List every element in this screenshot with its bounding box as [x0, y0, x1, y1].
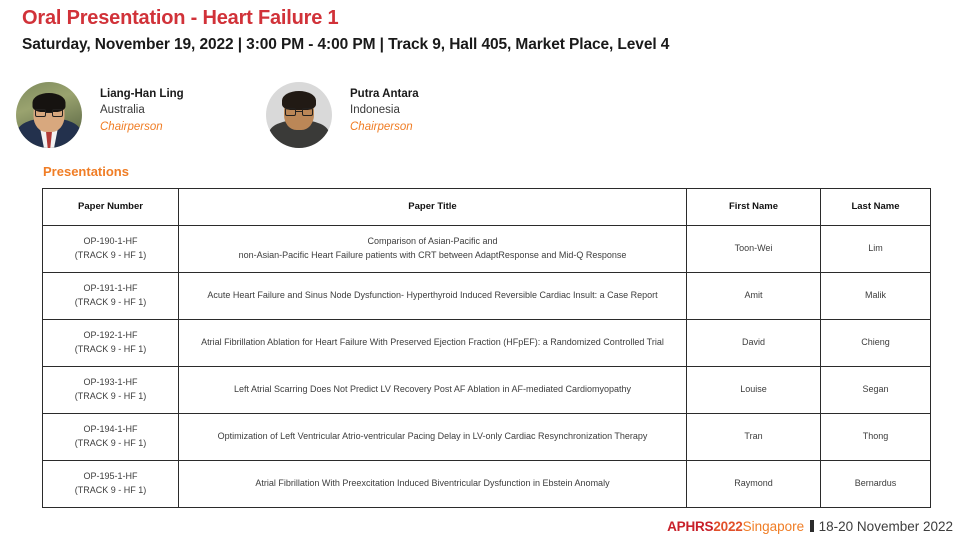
- paper-title-line2: non-Asian-Pacific Heart Failure patients…: [239, 250, 627, 260]
- cell-paper-number: OP-190-1-HF (TRACK 9 - HF 1): [43, 226, 179, 273]
- avatar: [266, 82, 332, 148]
- table-row: OP-191-1-HF (TRACK 9 - HF 1) Acute Heart…: [43, 273, 931, 320]
- chairperson-card: Putra Antara Indonesia Chairperson: [266, 72, 516, 148]
- table-header-row: Paper Number Paper Title First Name Last…: [43, 189, 931, 226]
- presentations-heading: Presentations: [43, 164, 129, 179]
- cell-paper-title: Comparison of Asian-Pacific and non-Asia…: [179, 226, 687, 273]
- table-row: OP-194-1-HF (TRACK 9 - HF 1) Optimizatio…: [43, 414, 931, 461]
- chairperson-country: Indonesia: [350, 102, 419, 118]
- cell-last-name: Lim: [821, 226, 931, 273]
- chairperson-card: Liang-Han Ling Australia Chairperson: [16, 72, 266, 148]
- separator-bar-icon: [810, 520, 814, 532]
- column-header-last-name: Last Name: [821, 189, 931, 226]
- paper-id: OP-193-1-HF: [49, 376, 172, 390]
- chairperson-name: Putra Antara: [350, 86, 419, 102]
- cell-paper-number: OP-194-1-HF (TRACK 9 - HF 1): [43, 414, 179, 461]
- cell-paper-title: Atrial Fibrillation Ablation for Heart F…: [179, 320, 687, 367]
- footer-year: 2022: [713, 519, 742, 534]
- cell-paper-number: OP-193-1-HF (TRACK 9 - HF 1): [43, 367, 179, 414]
- avatar: [16, 82, 82, 148]
- cell-first-name: Raymond: [687, 461, 821, 508]
- footer-city: Singapore: [743, 519, 805, 534]
- cell-paper-number: OP-195-1-HF (TRACK 9 - HF 1): [43, 461, 179, 508]
- paper-id: OP-195-1-HF: [49, 470, 172, 484]
- footer-branding: APHRS2022Singapore18-20 November 2022: [667, 520, 953, 534]
- cell-first-name: Amit: [687, 273, 821, 320]
- cell-last-name: Thong: [821, 414, 931, 461]
- table-row: OP-192-1-HF (TRACK 9 - HF 1) Atrial Fibr…: [43, 320, 931, 367]
- table-row: OP-193-1-HF (TRACK 9 - HF 1) Left Atrial…: [43, 367, 931, 414]
- paper-track: (TRACK 9 - HF 1): [49, 343, 172, 357]
- cell-first-name: Louise: [687, 367, 821, 414]
- chairperson-role: Chairperson: [350, 119, 419, 135]
- cell-first-name: David: [687, 320, 821, 367]
- paper-id: OP-194-1-HF: [49, 423, 172, 437]
- paper-track: (TRACK 9 - HF 1): [49, 249, 172, 263]
- cell-paper-title: Left Atrial Scarring Does Not Predict LV…: [179, 367, 687, 414]
- session-details: Saturday, November 19, 2022 | 3:00 PM - …: [22, 36, 669, 54]
- footer-dates: 18-20 November 2022: [819, 519, 953, 534]
- page-title: Oral Presentation - Heart Failure 1: [22, 7, 338, 30]
- column-header-first-name: First Name: [687, 189, 821, 226]
- paper-track: (TRACK 9 - HF 1): [49, 437, 172, 451]
- paper-id: OP-190-1-HF: [49, 235, 172, 249]
- cell-paper-title: Acute Heart Failure and Sinus Node Dysfu…: [179, 273, 687, 320]
- cell-paper-number: OP-192-1-HF (TRACK 9 - HF 1): [43, 320, 179, 367]
- paper-title-line1: Comparison of Asian-Pacific and: [367, 236, 497, 246]
- paper-track: (TRACK 9 - HF 1): [49, 484, 172, 498]
- paper-id: OP-192-1-HF: [49, 329, 172, 343]
- cell-paper-title: Atrial Fibrillation With Preexcitation I…: [179, 461, 687, 508]
- chairperson-country: Australia: [100, 102, 184, 118]
- column-header-paper-title: Paper Title: [179, 189, 687, 226]
- cell-last-name: Bernardus: [821, 461, 931, 508]
- cell-paper-number: OP-191-1-HF (TRACK 9 - HF 1): [43, 273, 179, 320]
- glasses-icon: [35, 109, 63, 117]
- cell-last-name: Malik: [821, 273, 931, 320]
- cell-first-name: Toon-Wei: [687, 226, 821, 273]
- paper-track: (TRACK 9 - HF 1): [49, 390, 172, 404]
- column-header-paper-number: Paper Number: [43, 189, 179, 226]
- cell-first-name: Tran: [687, 414, 821, 461]
- cell-last-name: Segan: [821, 367, 931, 414]
- paper-track: (TRACK 9 - HF 1): [49, 296, 172, 310]
- glasses-icon: [285, 108, 313, 116]
- cell-last-name: Chieng: [821, 320, 931, 367]
- paper-id: OP-191-1-HF: [49, 282, 172, 296]
- footer-brand: APHRS: [667, 519, 713, 534]
- cell-paper-title: Optimization of Left Ventricular Atrio-v…: [179, 414, 687, 461]
- table-row: OP-190-1-HF (TRACK 9 - HF 1) Comparison …: [43, 226, 931, 273]
- chairperson-list: Liang-Han Ling Australia Chairperson Put…: [16, 72, 516, 148]
- chairperson-name: Liang-Han Ling: [100, 86, 184, 102]
- presentations-table: Paper Number Paper Title First Name Last…: [42, 188, 931, 508]
- table-row: OP-195-1-HF (TRACK 9 - HF 1) Atrial Fibr…: [43, 461, 931, 508]
- chairperson-role: Chairperson: [100, 119, 184, 135]
